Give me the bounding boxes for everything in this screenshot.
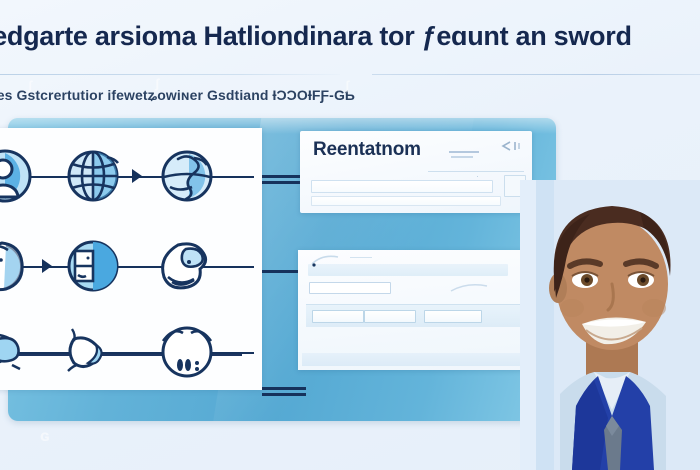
field-row-1[interactable] [309,282,391,294]
page-root: redgarte arsioma Hatliondinara tor ƒeɑun… [0,0,700,470]
header-divider [0,74,700,75]
button-three[interactable] [424,310,482,323]
header-divider-right [372,74,700,75]
header-divider-left [0,74,340,75]
registration-card: Reentatnom · [300,131,532,213]
diagram-row [0,130,262,214]
details-card [298,250,536,370]
field-secondary[interactable] [311,196,501,206]
button-two[interactable] [364,310,416,323]
diagram-row [0,306,262,390]
title-accent-dash [449,151,479,153]
card-mark [310,253,358,272]
user-avatar-icon[interactable] [0,147,34,205]
ghost-mark: ɢ [40,428,49,446]
shield-shape-icon[interactable] [64,323,122,381]
smiley-circle-icon[interactable] [158,323,216,381]
card-footer-band [302,353,532,366]
title-accent-dash [451,156,473,158]
diagram-card [0,128,262,390]
field-primary[interactable] [311,180,493,193]
connector-stub [262,387,306,390]
page-subtitle: fies Gstcrertutior ifewetʑowiɴer Gsdtian… [0,87,608,103]
card-title: Reentatnom [313,139,421,161]
person-illustration [520,180,700,470]
chevron-pair-icon[interactable] [501,141,523,151]
card-mark [450,280,490,298]
arrow-head-icon [42,259,52,273]
diagram-row [0,220,262,304]
circle-split-icon[interactable] [64,237,122,295]
arrow-head-icon [132,169,142,183]
globe-scribble-icon[interactable] [158,147,216,205]
globe-grid-icon[interactable] [64,147,122,205]
connector-stub [262,393,306,396]
button-one[interactable] [312,310,364,323]
stack-layers-icon[interactable] [0,323,34,381]
face-profile-icon[interactable] [0,237,34,295]
card-rule [350,257,372,258]
button-strip [306,304,528,327]
cloud-face-icon[interactable] [158,237,216,295]
page-title: redgarte arsioma Hatliondinara tor ƒeɑun… [0,22,682,52]
